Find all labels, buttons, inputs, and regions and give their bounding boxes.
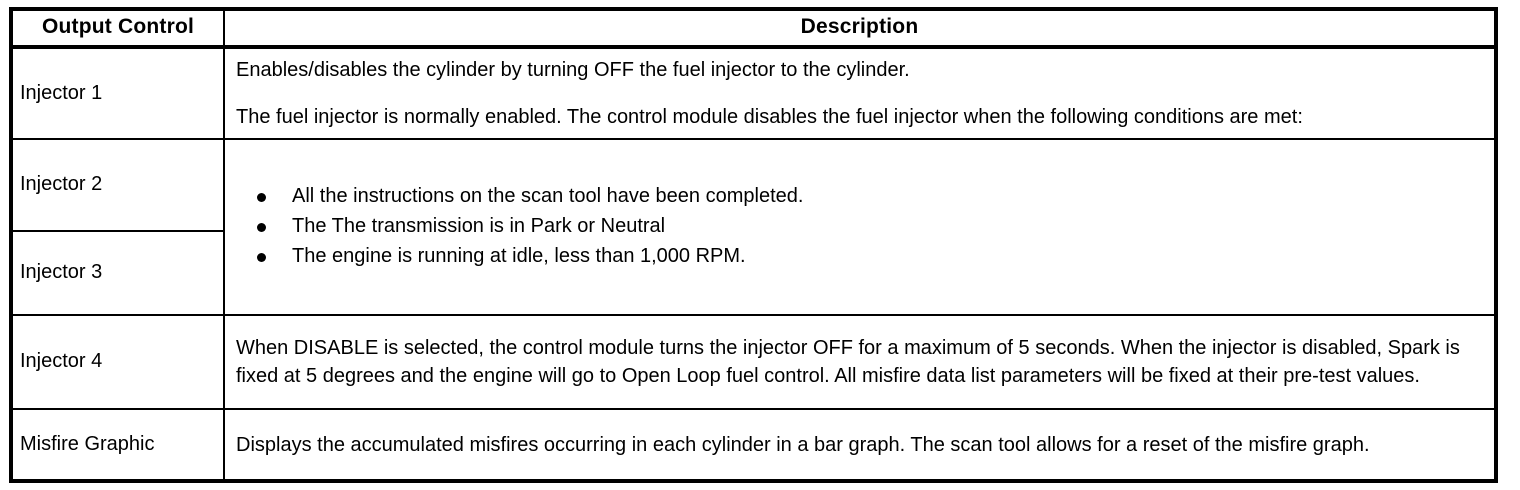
description-disable-block: When DISABLE is selected, the control mo… [225, 327, 1494, 397]
description-paragraph-enable-disable: Enables/disables the cylinder by turning… [236, 56, 1484, 84]
description-paragraph-misfire: Displays the accumulated misfires occurr… [236, 431, 1484, 459]
control-label-injector-4: Injector 4 [13, 350, 223, 373]
description-cell-misfire-graphic: Displays the accumulated misfires occurr… [224, 409, 1496, 481]
list-item: All the instructions on the scan tool ha… [236, 182, 1484, 212]
description-paragraph-normally-enabled: The fuel injector is normally enabled. T… [236, 103, 1484, 131]
list-item: The engine is running at idle, less than… [236, 242, 1484, 272]
column-header-description: Description [224, 9, 1496, 47]
table-row: Injector 4 When DISABLE is selected, the… [11, 315, 1496, 409]
table-row: Injector 2 All the instructions on the s… [11, 139, 1496, 231]
control-label-misfire-graphic: Misfire Graphic [13, 433, 223, 456]
table-row: Misfire Graphic Displays the accumulated… [11, 409, 1496, 481]
description-conditions-block: All the instructions on the scan tool ha… [225, 176, 1494, 277]
description-cell-conditions: All the instructions on the scan tool ha… [224, 139, 1496, 315]
column-header-output-control: Output Control [11, 9, 224, 47]
description-text-block: Enables/disables the cylinder by turning… [225, 49, 1494, 138]
control-cell-injector-4: Injector 4 [11, 315, 224, 409]
condition-text: The The transmission is in Park or Neutr… [292, 215, 665, 237]
bullet-icon [257, 253, 266, 262]
description-cell-injector-intro: Enables/disables the cylinder by turning… [224, 47, 1496, 139]
description-misfire-block: Displays the accumulated misfires occurr… [225, 424, 1494, 465]
document-page: Output Control Description Injector 1 En… [0, 0, 1520, 490]
column-header-output-control-label: Output Control [13, 14, 223, 42]
table-row: Injector 1 Enables/disables the cylinder… [11, 47, 1496, 139]
table-header-row: Output Control Description [11, 9, 1496, 47]
control-cell-injector-3: Injector 3 [11, 231, 224, 315]
conditions-list: All the instructions on the scan tool ha… [236, 182, 1484, 271]
condition-text: All the instructions on the scan tool ha… [292, 185, 803, 207]
description-cell-disable-note: When DISABLE is selected, the control mo… [224, 315, 1496, 409]
column-header-description-label: Description [225, 14, 1494, 42]
control-label-injector-1: Injector 1 [13, 82, 223, 105]
control-cell-injector-1: Injector 1 [11, 47, 224, 139]
list-item: The The transmission is in Park or Neutr… [236, 212, 1484, 242]
control-label-injector-2: Injector 2 [13, 173, 223, 196]
bullet-icon [257, 223, 266, 232]
control-cell-misfire-graphic: Misfire Graphic [11, 409, 224, 481]
condition-text: The engine is running at idle, less than… [292, 245, 746, 267]
control-label-injector-3: Injector 3 [13, 261, 223, 284]
description-paragraph-disable: When DISABLE is selected, the control mo… [236, 334, 1484, 391]
output-control-table: Output Control Description Injector 1 En… [9, 7, 1498, 483]
bullet-icon [257, 193, 266, 202]
control-cell-injector-2: Injector 2 [11, 139, 224, 231]
